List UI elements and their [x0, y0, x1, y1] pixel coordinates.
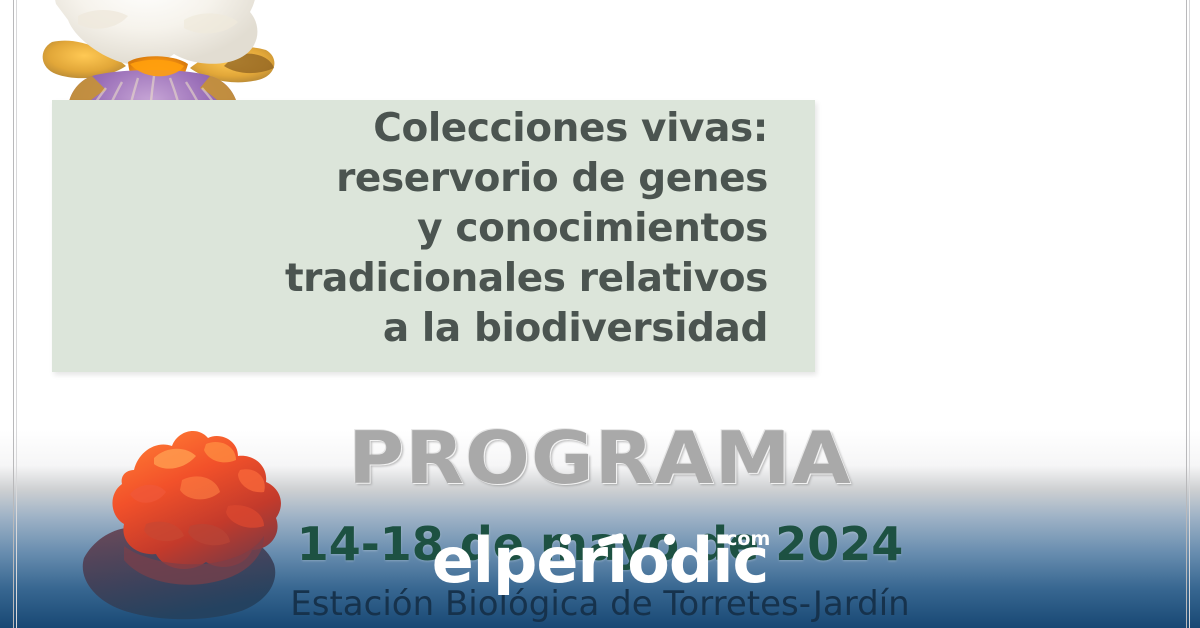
poster-title: Colecciones vivas: reservorio de genes y…	[52, 104, 792, 354]
programa-heading-label: PROGRAMA	[348, 418, 852, 498]
programa-heading: PROGRAMA	[0, 418, 1200, 498]
event-dates: 14-18 de mayo de 2024	[0, 516, 1200, 572]
event-venue: Estación Biológica de Torretes-Jardín	[0, 583, 1200, 625]
poster-image: Colecciones vivas: reservorio de genes y…	[0, 0, 1200, 628]
